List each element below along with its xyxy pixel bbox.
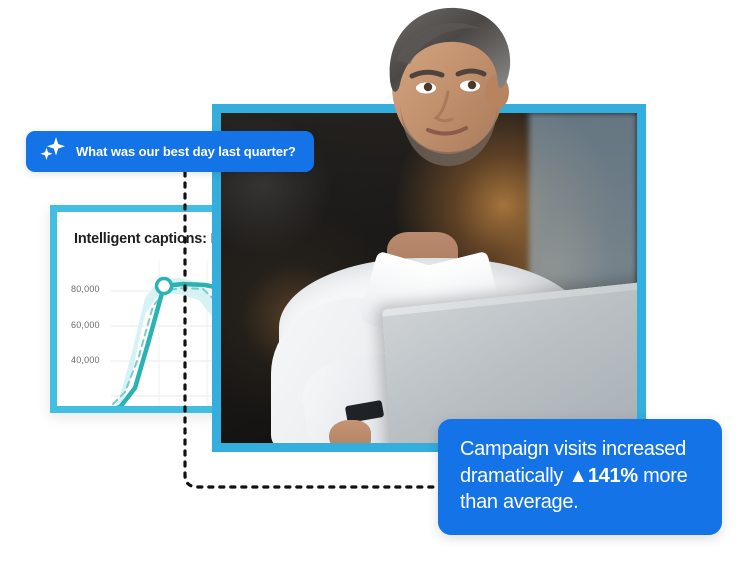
caption-delta-symbol: ▲ xyxy=(568,465,588,487)
caption-delta-value: 141% xyxy=(588,465,638,487)
insight-caption-box: Campaign visits increased dramatically ▲… xyxy=(438,419,722,535)
person-head-art xyxy=(352,0,552,200)
person-hand xyxy=(329,420,371,443)
insight-caption-text: Campaign visits increased dramatically ▲… xyxy=(460,436,700,516)
ai-prompt-text: What was our best day last quarter? xyxy=(76,144,296,159)
sparkle-icon xyxy=(40,137,66,166)
ai-prompt-pill[interactable]: What was our best day last quarter? xyxy=(26,131,314,172)
promo-composition: Intelligent captions: Line 80,000 60,000… xyxy=(0,0,750,563)
chart-highlight-marker xyxy=(157,279,172,294)
person-head xyxy=(352,0,552,200)
